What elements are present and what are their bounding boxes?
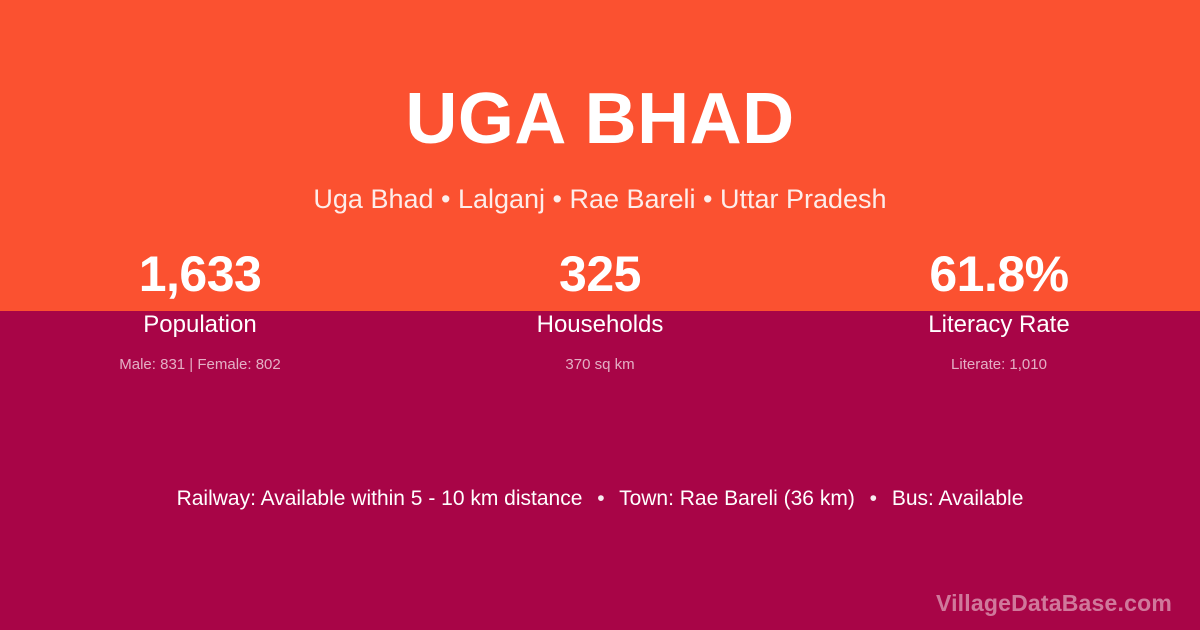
facility-railway: Railway: Available within 5 - 10 km dist… [177, 487, 583, 510]
village-info-banner: UGA BHAD Uga Bhad • Lalganj • Rae Bareli… [0, 0, 1200, 630]
bullet-separator-icon: • [861, 485, 886, 513]
stat-households-value: 325 [400, 246, 800, 302]
stat-literacy-rate: 61.8% Literacy Rate Literate: 1,010 [799, 246, 1199, 375]
stat-population: 1,633 Population Male: 831 | Female: 802 [0, 246, 400, 375]
stat-literacy-rate-sub: Literate: 1,010 [799, 355, 1199, 375]
facilities-line: Railway: Available within 5 - 10 km dist… [0, 485, 1200, 513]
stat-literacy-rate-value: 61.8% [799, 246, 1199, 302]
stat-population-value: 1,633 [0, 246, 400, 302]
facility-bus: Bus: Available [892, 487, 1024, 510]
page-title: UGA BHAD [0, 83, 1200, 155]
stat-population-label: Population [0, 310, 400, 340]
facility-nearest-town: Town: Rae Bareli (36 km) [619, 487, 855, 510]
stat-households-label: Households [400, 310, 800, 340]
stat-households: 325 Households 370 sq km [400, 246, 800, 375]
stat-literacy-rate-label: Literacy Rate [799, 310, 1199, 340]
site-watermark: VillageDataBase.com [936, 589, 1172, 617]
stat-population-sub: Male: 831 | Female: 802 [0, 355, 400, 375]
stat-households-sub: 370 sq km [400, 355, 800, 375]
bullet-separator-icon: • [588, 485, 613, 513]
stats-row: 1,633 Population Male: 831 | Female: 802… [0, 246, 1200, 375]
breadcrumb: Uga Bhad • Lalganj • Rae Bareli • Uttar … [0, 183, 1200, 215]
